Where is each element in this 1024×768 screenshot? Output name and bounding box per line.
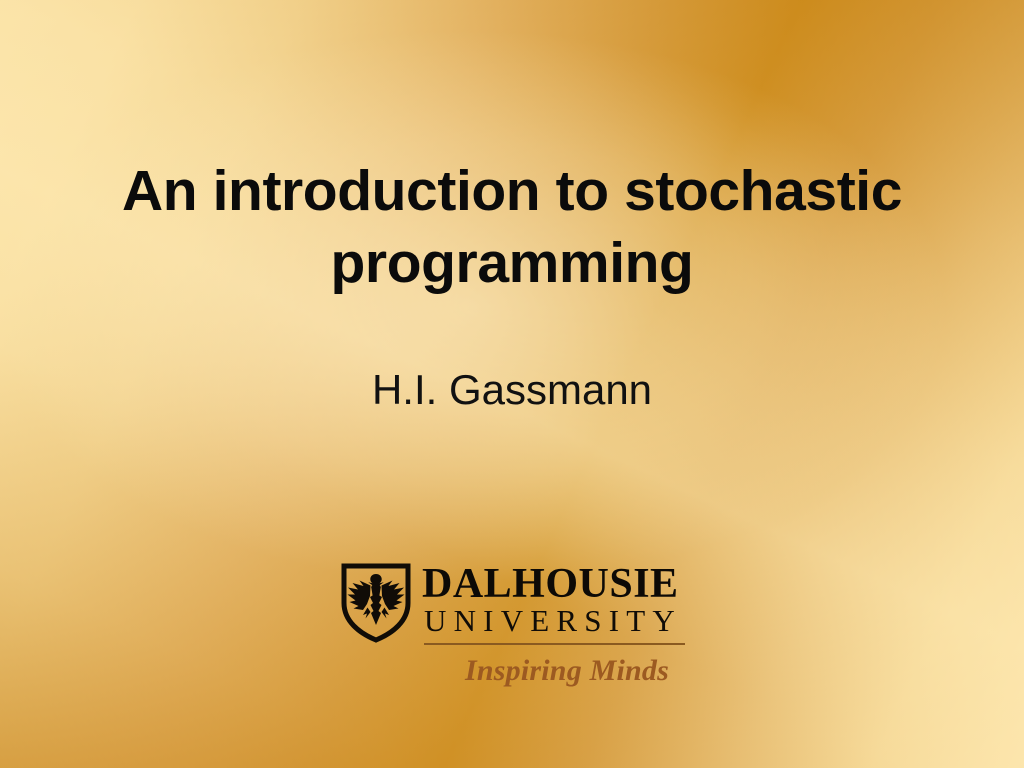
slide-content: An introduction to stochastic programmin… [0, 0, 1024, 768]
logo-tagline: Inspiring Minds [453, 655, 681, 687]
slide-title-line-1: An introduction to stochastic [62, 155, 962, 227]
logo-name-university: UNIVERSITY [424, 604, 685, 638]
slide-title-line-2: programming [62, 227, 962, 299]
dalhousie-university-logo: DALHOUSIE UNIVERSITY Inspiring Minds [341, 563, 681, 675]
title-slide: An introduction to stochastic programmin… [0, 0, 1024, 768]
slide-title: An introduction to stochastic programmin… [62, 155, 962, 299]
author-name: H.I. Gassmann [372, 366, 652, 413]
logo-main-row: DALHOUSIE UNIVERSITY [341, 563, 685, 645]
dalhousie-shield-eagle-icon [341, 563, 411, 643]
logo-name-dalhousie: DALHOUSIE [422, 564, 685, 604]
logo-wordmark: DALHOUSIE UNIVERSITY [422, 563, 685, 645]
slide-subtitle: H.I. Gassmann [62, 365, 962, 415]
logo-divider-rule [424, 643, 685, 645]
